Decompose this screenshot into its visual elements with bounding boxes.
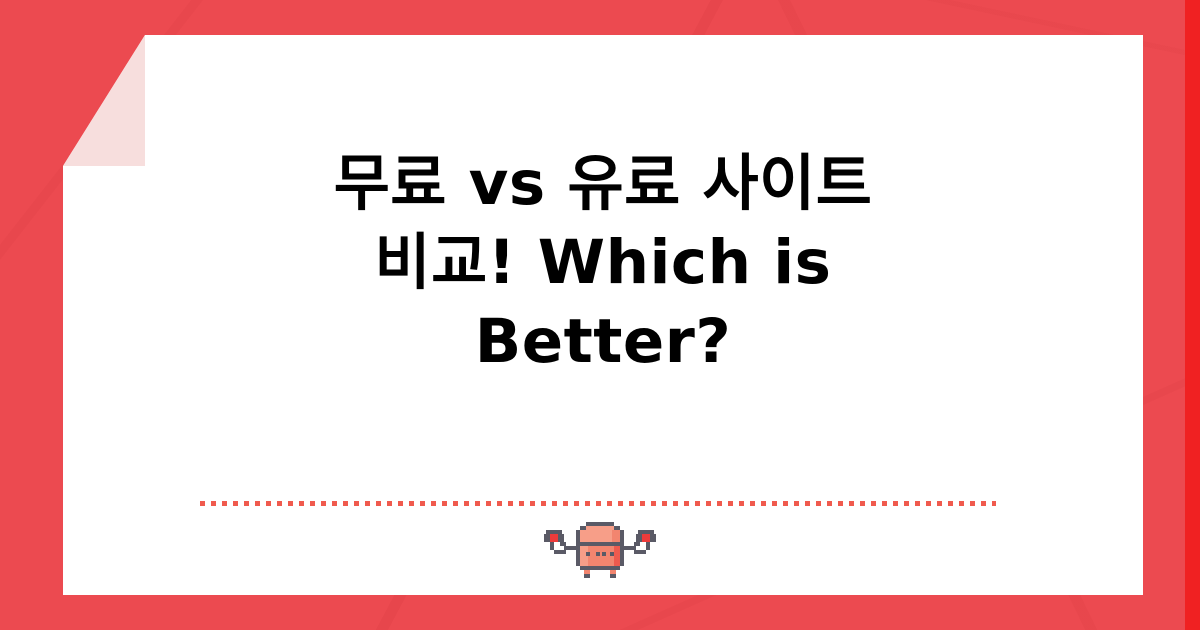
- title-line-2: 비교! Which is: [375, 227, 832, 298]
- robot-icon: [538, 518, 662, 580]
- title-line-1: 무료 vs 유료 사이트: [334, 148, 873, 219]
- poster-canvas: 무료 vs 유료 사이트 비교! Which is Better?: [0, 0, 1200, 630]
- title-area: 무료 vs 유료 사이트 비교! Which is Better?: [63, 35, 1143, 490]
- mascot-area: [0, 518, 1200, 580]
- title-line-3: Better?: [475, 306, 732, 377]
- page-title: 무료 vs 유료 사이트 비교! Which is Better?: [273, 144, 933, 382]
- dotted-divider: [200, 501, 996, 506]
